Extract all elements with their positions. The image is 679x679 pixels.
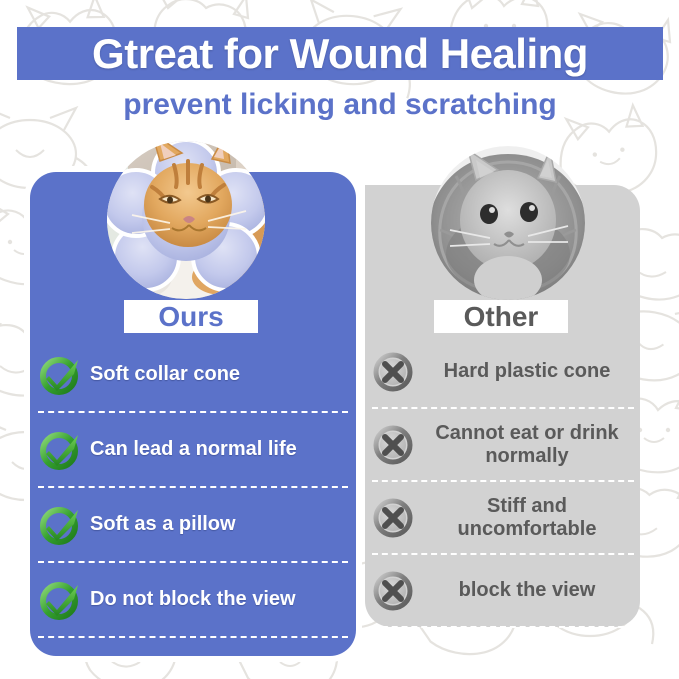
- feature-label: block the view: [420, 579, 634, 601]
- column-header-ours: Ours: [124, 300, 258, 333]
- grayscale-cat-with-hard-plastic-cone-photo: [416, 146, 600, 300]
- feature-row: block the view: [372, 555, 634, 628]
- feature-label: Stiff and uncomfortable: [420, 495, 634, 540]
- feature-label: Soft as a pillow: [90, 513, 236, 535]
- feature-label: Do not block the view: [90, 588, 296, 610]
- feature-row: Soft collar cone: [38, 338, 348, 413]
- feature-row: Do not block the view: [38, 563, 348, 638]
- gray-x-circle-icon: [372, 424, 414, 466]
- feature-list-ours: Soft collar cone Can lead a normal life …: [38, 338, 348, 638]
- green-check-circle-icon: [38, 503, 82, 547]
- feature-row: Can lead a normal life: [38, 413, 348, 488]
- feature-label: Soft collar cone: [90, 363, 240, 385]
- column-header-other: Other: [434, 300, 568, 333]
- feature-row: Cannot eat or drink normally: [372, 409, 634, 482]
- gray-x-circle-icon: [372, 570, 414, 612]
- feature-label: Can lead a normal life: [90, 438, 297, 460]
- feature-row: Stiff and uncomfortable: [372, 482, 634, 555]
- feature-label: Cannot eat or drink normally: [420, 422, 634, 467]
- gray-x-circle-icon: [372, 497, 414, 539]
- feature-label: Hard plastic cone: [420, 360, 634, 382]
- page-title: Gtreat for Wound Healing: [17, 25, 663, 82]
- feature-row: Soft as a pillow: [38, 488, 348, 563]
- page-subtitle: prevent licking and scratching: [17, 85, 663, 125]
- green-check-circle-icon: [38, 578, 82, 622]
- orange-tabby-cat-with-soft-flower-collar-photo: [88, 141, 285, 299]
- green-check-circle-icon: [38, 428, 82, 472]
- feature-row: Hard plastic cone: [372, 336, 634, 409]
- green-check-circle-icon: [38, 353, 82, 397]
- feature-list-other: Hard plastic cone Cannot eat or drink no…: [372, 336, 634, 628]
- gray-x-circle-icon: [372, 351, 414, 393]
